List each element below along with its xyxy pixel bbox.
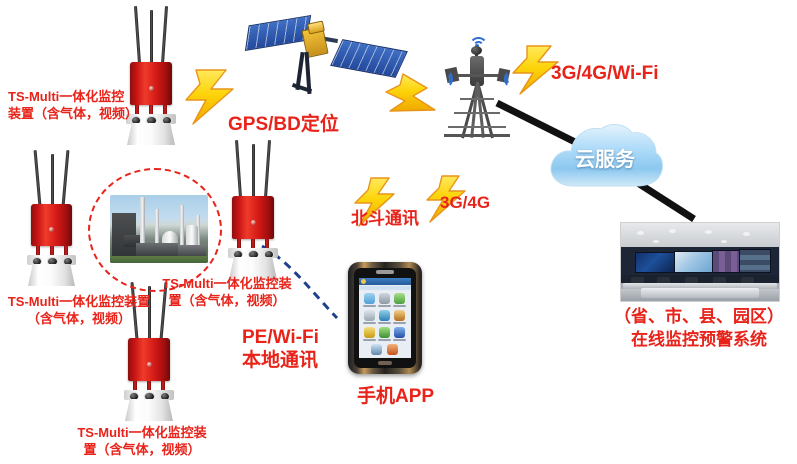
label-device-top-left: TS-Multi一体化监控 装置（含气体，视频） [8,89,143,122]
tablet-speaker [376,270,394,274]
signal-wave-left [434,70,448,84]
app-status-bar [359,278,411,285]
plant-tank [186,225,198,247]
refinery-plant-photo [110,195,208,263]
label-gps-bd: GPS/BD定位 [228,113,339,137]
device-red-housing [232,196,274,239]
label-beidou: 北斗通讯 [351,208,419,230]
device-red-housing [128,338,170,381]
tower-crossarm [452,74,504,77]
app-icon[interactable] [394,327,405,338]
label-device-mid-right: TS-Multi一体化监控装 置（含气体，视频） [160,276,294,309]
video-wall-panel [739,249,771,273]
tower-base [444,134,510,137]
app-icon[interactable] [394,293,405,304]
device-base-cone [28,264,75,286]
device-base-cone [125,399,173,421]
antenna-rod [235,140,242,198]
app-icon[interactable] [364,310,375,321]
tower-brace [454,112,500,114]
app-icon[interactable] [379,293,390,304]
monitoring-device-mid-left[interactable] [22,150,82,290]
video-wall-panel [635,252,675,273]
antenna-rod [252,144,255,198]
solar-panel-right [330,39,408,78]
app-icon[interactable] [371,344,382,355]
video-wall-panel [674,251,713,273]
antenna-rod [62,150,70,206]
tower-beacon [471,46,482,55]
console-desk-front [641,288,759,298]
tower-brace [448,126,506,128]
signal-wave-right [506,70,520,84]
cell-tower-icon [432,20,524,150]
satellite-icon [246,12,406,112]
monitoring-device-top-left[interactable] [120,6,182,146]
device-base-cone [127,123,175,145]
label-device-bottom: TS-Multi一体化监控装 置（含气体，视频） [72,425,212,458]
app-icon[interactable] [387,344,398,355]
antenna-rod [51,154,54,206]
ceiling [621,223,779,247]
label-local-comm: PE/Wi-Fi 本地通讯 [242,327,319,373]
monitoring-device-mid-right[interactable] [222,140,284,285]
device-red-housing [31,204,72,246]
plant-stack [180,205,184,245]
antenna-rod [34,150,42,206]
diagram-canvas: 云服务 [0,0,797,464]
label-control-center: （省、市、县、园区） 在线监控预警系统 [600,306,797,352]
antenna-rod [161,6,168,64]
control-room-photo [620,222,780,302]
video-wall-panel [712,250,740,273]
plant-stack [140,197,145,243]
app-icon[interactable] [394,310,405,321]
plant-stack [155,209,159,245]
app-icon[interactable] [379,310,390,321]
tower-brace [460,98,494,100]
label-device-mid-left: TS-Multi一体化监控装置 （含气体，视频） [4,294,154,327]
antenna-rod [150,10,153,64]
plant-block [136,243,178,256]
plant-ground [110,256,208,263]
antenna-rod [134,6,141,64]
label-3g4g: 3G/4G [440,192,490,214]
label-3g4g-wifi: 3G/4G/Wi-Fi [551,62,659,86]
tablet-screen[interactable] [359,278,411,358]
cloud-icon[interactable]: 云服务 [544,116,666,194]
rugged-tablet-device[interactable] [348,262,422,374]
app-icon[interactable] [379,327,390,338]
app-icon[interactable] [364,327,375,338]
label-phone-app: 手机APP [357,385,434,409]
wall-base [621,275,779,283]
antenna-rod [264,140,271,198]
plant-block [178,245,206,256]
cloud-label: 云服务 [544,143,666,172]
app-icon[interactable] [364,293,375,304]
tablet-home-button[interactable] [378,361,392,365]
bolt-device-to-satellite [186,70,233,124]
